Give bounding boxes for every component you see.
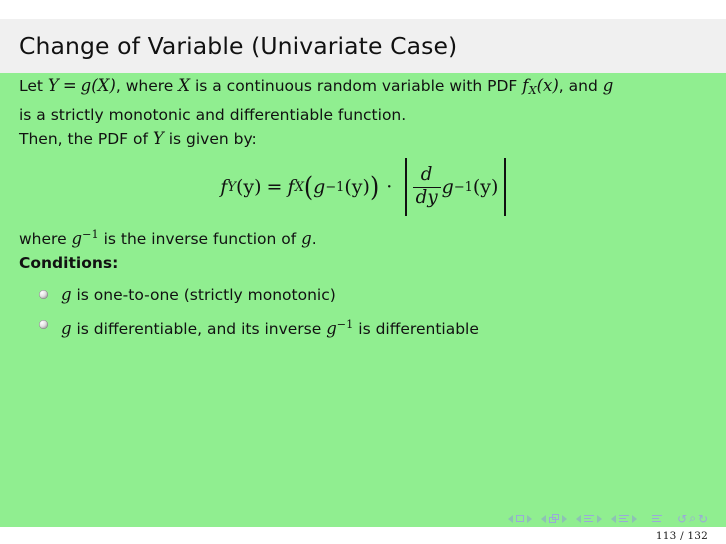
nav-previous-slide-icon[interactable] bbox=[508, 515, 513, 523]
nav-previous-frame-icon[interactable] bbox=[541, 515, 546, 523]
note-text-where: where bbox=[19, 230, 67, 248]
nav-slide-icon[interactable] bbox=[516, 515, 524, 522]
absolute-value-bar-left bbox=[405, 158, 406, 216]
equation-rhs-subscript: X bbox=[295, 180, 304, 195]
equation-equals-sign: = bbox=[267, 176, 283, 198]
intro-text-continuous: is a continuous random variable with PDF bbox=[195, 77, 517, 95]
nav-frame-icon[interactable] bbox=[549, 514, 559, 523]
conditions-heading: Conditions: bbox=[19, 251, 713, 275]
nav-previous-section-icon[interactable] bbox=[611, 515, 616, 523]
nav-group-section[interactable] bbox=[611, 515, 637, 523]
intro-paragraph-line-2: is a strictly monotonic and differentiab… bbox=[19, 103, 713, 127]
condition-2-math-g-inverse: g bbox=[326, 319, 337, 338]
equation-frac-g: g bbox=[442, 176, 454, 198]
equation-lhs-subscript: Y bbox=[227, 180, 236, 195]
math-f: f bbox=[522, 76, 528, 95]
bullet-sphere-icon bbox=[39, 290, 48, 299]
list-item: g is one-to-one (strictly monotonic) bbox=[39, 280, 713, 310]
note-text-inverse-of: is the inverse function of bbox=[104, 230, 297, 248]
nav-group-frame[interactable] bbox=[541, 514, 567, 523]
equation-big-paren-open: ( bbox=[304, 176, 313, 198]
intro-paragraph-line-1: Let Y=g(X), where X is a continuous rand… bbox=[19, 74, 713, 103]
nav-forward-icon[interactable]: ↻ bbox=[698, 512, 708, 526]
note-math-g-2: g bbox=[301, 229, 312, 248]
absolute-value-bar-right bbox=[504, 158, 505, 216]
equation-rhs-f: f bbox=[287, 176, 294, 198]
intro-text-where: , where bbox=[116, 77, 173, 95]
nav-section-icon[interactable] bbox=[619, 515, 629, 523]
math-Y-2: Y bbox=[153, 129, 164, 148]
intro-text-then: Then, the PDF of bbox=[19, 130, 148, 148]
note-math-g: g bbox=[72, 229, 83, 248]
nav-search-icon[interactable]: ⌕ bbox=[689, 511, 696, 526]
presentation-slide: Change of Variable (Univariate Case) Let… bbox=[0, 0, 726, 544]
inverse-function-note: where g−1 is the inverse function of g. bbox=[19, 223, 713, 251]
conditions-list: g is one-to-one (strictly monotonic) g i… bbox=[19, 280, 713, 344]
equation-g-argument: (y) bbox=[344, 176, 370, 198]
intro-text-given-by: is given by: bbox=[169, 130, 257, 148]
condition-2-math-g-exponent: −1 bbox=[337, 310, 354, 340]
equation-multiplication-dot: · bbox=[386, 176, 392, 198]
math-equals: = bbox=[63, 76, 77, 95]
math-f-argument: (x) bbox=[537, 76, 559, 95]
equation-lhs-f: f bbox=[220, 176, 227, 198]
nav-group-document[interactable] bbox=[652, 515, 662, 523]
slide-title-bar: Change of Variable (Univariate Case) bbox=[0, 19, 726, 73]
condition-1-text: is one-to-one (strictly monotonic) bbox=[77, 286, 336, 304]
condition-2-math-g: g bbox=[61, 319, 72, 338]
list-item: g is differentiable, and its inverse g−1… bbox=[39, 310, 713, 344]
note-period: . bbox=[312, 230, 317, 248]
equation-g-exponent: −1 bbox=[325, 180, 344, 195]
display-equation: fY(y) = fX(g−1(y)) · d dy g−1(y) bbox=[19, 151, 713, 223]
nav-group-history[interactable]: ↺ ⌕ ↻ bbox=[677, 511, 708, 526]
nav-document-icon[interactable] bbox=[652, 515, 662, 523]
nav-group-subsection[interactable] bbox=[576, 515, 602, 523]
fraction-denominator: dy bbox=[413, 189, 441, 208]
fraction-numerator: d bbox=[418, 166, 436, 185]
math-X: X bbox=[98, 76, 110, 95]
nav-group-slide[interactable] bbox=[508, 515, 532, 523]
condition-2-text-b: is differentiable bbox=[358, 320, 479, 338]
slide-content: Let Y=g(X), where X is a continuous rand… bbox=[19, 74, 713, 344]
note-math-g-exponent: −1 bbox=[82, 223, 99, 247]
intro-paragraph-line-3: Then, the PDF of Y is given by: bbox=[19, 127, 713, 151]
bullet-sphere-icon bbox=[39, 320, 48, 329]
nav-next-frame-icon[interactable] bbox=[562, 515, 567, 523]
nav-previous-subsection-icon[interactable] bbox=[576, 515, 581, 523]
intro-text-let: Let bbox=[19, 77, 43, 95]
page-title: Change of Variable (Univariate Case) bbox=[19, 32, 457, 60]
nav-back-icon[interactable]: ↺ bbox=[677, 512, 687, 526]
nav-next-subsection-icon[interactable] bbox=[597, 515, 602, 523]
equation-big-paren-close: ) bbox=[370, 176, 379, 198]
beamer-navigation-bar[interactable]: ↺ ⌕ ↻ bbox=[0, 510, 726, 527]
nav-next-section-icon[interactable] bbox=[632, 515, 637, 523]
math-X-2: X bbox=[178, 76, 190, 95]
equation-lhs-argument: (y) bbox=[236, 176, 262, 198]
equation-frac-g-argument: (y) bbox=[473, 176, 499, 198]
math-Y: Y bbox=[48, 76, 59, 95]
equation-g: g bbox=[313, 176, 325, 198]
math-f-subscript: X bbox=[529, 79, 537, 103]
math-g: g bbox=[81, 76, 92, 95]
derivative-fraction: d dy bbox=[413, 166, 441, 207]
condition-2-text-a: is differentiable, and its inverse bbox=[77, 320, 322, 338]
math-g-2: g bbox=[603, 76, 614, 95]
frame-counter: 113 / 132 bbox=[656, 530, 708, 542]
nav-subsection-icon[interactable] bbox=[584, 515, 594, 523]
equation-frac-g-exponent: −1 bbox=[454, 180, 473, 195]
condition-1-math-g: g bbox=[61, 285, 72, 304]
intro-text-and: , and bbox=[559, 77, 598, 95]
nav-next-slide-icon[interactable] bbox=[527, 515, 532, 523]
